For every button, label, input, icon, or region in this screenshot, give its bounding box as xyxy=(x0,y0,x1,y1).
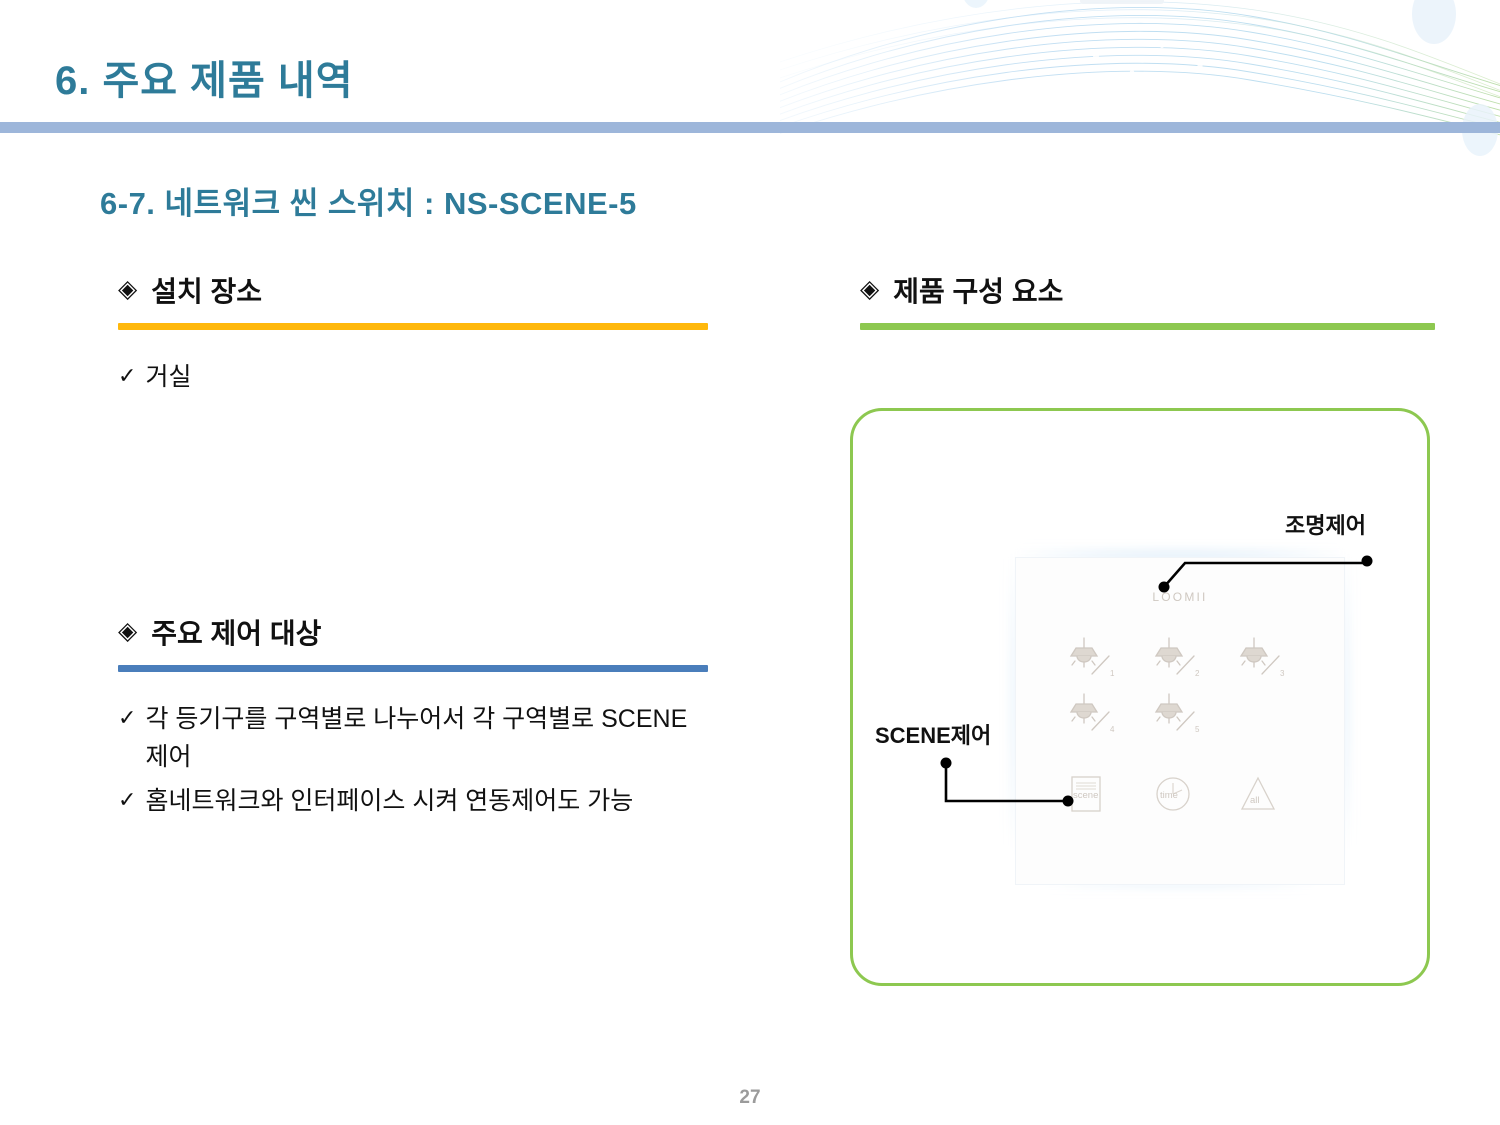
section-product-components: ◈ 제품 구성 요소 xyxy=(860,270,1435,330)
list-item-text: 홈네트워크와 인터페이스 시켜 연동제어도 가능 xyxy=(145,782,633,820)
diamond-bullet-icon: ◈ xyxy=(118,619,137,644)
pendant-lamp-icon: 3 xyxy=(1234,634,1296,684)
pendant-lamp-icon: 4 xyxy=(1064,690,1126,740)
diamond-bullet-icon: ◈ xyxy=(118,277,137,302)
check-icon: ✓ xyxy=(118,358,136,394)
list-item-text: 각 등기구를 구역별로 나누어서 각 구역별로 SCENE 제어 xyxy=(145,700,705,776)
time-icon: time xyxy=(1151,772,1207,816)
wave-graphic-icon xyxy=(780,0,1500,160)
install-bullet-list: ✓ 거실 xyxy=(118,358,708,396)
control-bullet-list: ✓ 각 등기구를 구역별로 나누어서 각 구역별로 SCENE 제어 ✓ 홈네트… xyxy=(118,700,708,820)
section-components-underline xyxy=(860,323,1435,330)
keypad-row: 4 5 xyxy=(1052,686,1308,742)
scene-switch-device: LOOMII 1 xyxy=(1016,558,1344,884)
lamp-button-number: 2 xyxy=(1195,669,1200,678)
lamp-button-5[interactable]: 5 xyxy=(1137,686,1222,742)
section-control-underline xyxy=(118,665,708,672)
section-control-title: 주요 제어 대상 xyxy=(151,612,321,652)
scene-button[interactable]: scene xyxy=(1052,766,1137,822)
header-decoration xyxy=(780,0,1500,160)
device-brand-label: LOOMII xyxy=(1016,590,1344,604)
all-button-label: all xyxy=(1250,795,1260,806)
pendant-lamp-icon: 2 xyxy=(1149,634,1211,684)
header-divider xyxy=(0,122,1500,133)
check-icon: ✓ xyxy=(118,782,136,818)
callout-label-lighting-control: 조명제어 xyxy=(1285,508,1366,540)
all-icon: all xyxy=(1236,772,1292,816)
section-components-heading: ◈ 제품 구성 요소 xyxy=(860,270,1435,310)
keypad-row: scene time all xyxy=(1052,766,1308,822)
lamp-button-number: 5 xyxy=(1195,725,1200,734)
keypad-row: 1 2 xyxy=(1052,630,1308,686)
lamp-button-4[interactable]: 4 xyxy=(1052,686,1137,742)
check-icon: ✓ xyxy=(118,700,136,736)
slide: 6. 주요 제품 내역 6-7. 네트워크 씬 스위치 : NS-SCENE-5… xyxy=(0,0,1500,1125)
time-button[interactable]: time xyxy=(1137,766,1222,822)
time-button-label: time xyxy=(1160,790,1178,801)
scene-button-label: scene xyxy=(1073,790,1098,801)
pendant-lamp-icon: 1 xyxy=(1064,634,1126,684)
lamp-button-1[interactable]: 1 xyxy=(1052,630,1137,686)
lamp-button-number: 1 xyxy=(1110,669,1115,678)
section-install-heading: ◈ 설치 장소 xyxy=(118,270,708,310)
all-button[interactable]: all xyxy=(1222,766,1307,822)
lamp-button-3[interactable]: 3 xyxy=(1222,630,1307,686)
diamond-bullet-icon: ◈ xyxy=(860,277,879,302)
section-control-targets: ◈ 주요 제어 대상 ✓ 각 등기구를 구역별로 나누어서 각 구역별로 SCE… xyxy=(118,612,708,826)
lamp-button-number: 4 xyxy=(1110,725,1115,734)
list-item: ✓ 홈네트워크와 인터페이스 시켜 연동제어도 가능 xyxy=(118,782,708,820)
lamp-button-number: 3 xyxy=(1280,669,1285,678)
device-keypad: 1 2 xyxy=(1052,630,1308,822)
section-control-heading: ◈ 주요 제어 대상 xyxy=(118,612,708,652)
page-title: 6. 주요 제품 내역 xyxy=(55,48,354,106)
scene-icon: scene xyxy=(1066,772,1122,816)
lamp-button-2[interactable]: 2 xyxy=(1137,630,1222,686)
section-install-underline xyxy=(118,323,708,330)
list-item-text: 거실 xyxy=(145,358,191,396)
section-install-title: 설치 장소 xyxy=(151,270,262,310)
page-subtitle: 6-7. 네트워크 씬 스위치 : NS-SCENE-5 xyxy=(100,178,637,223)
section-install-location: ◈ 설치 장소 ✓ 거실 xyxy=(118,270,708,402)
section-components-title: 제품 구성 요소 xyxy=(893,270,1063,310)
page-number: 27 xyxy=(0,1087,1500,1109)
pendant-lamp-icon: 5 xyxy=(1149,690,1211,740)
callout-label-scene-control: SCENE제어 xyxy=(875,718,991,750)
list-item: ✓ 각 등기구를 구역별로 나누어서 각 구역별로 SCENE 제어 xyxy=(118,700,708,776)
list-item: ✓ 거실 xyxy=(118,358,708,396)
